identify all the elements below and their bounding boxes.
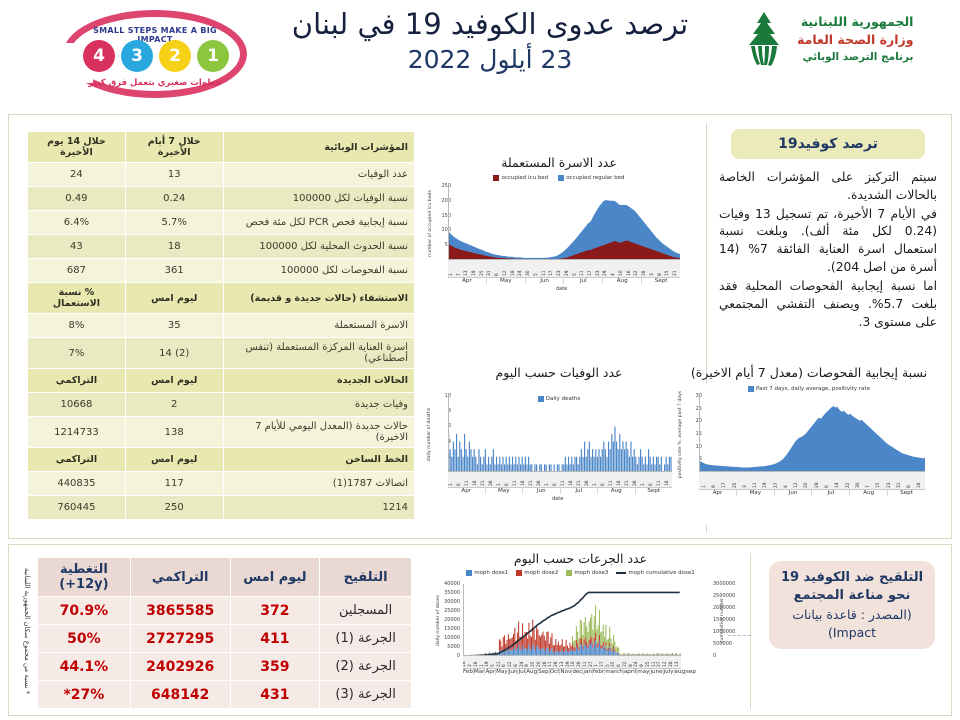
page-title: ترصد عدوى الكوفيد 19 في لبنان xyxy=(250,6,730,42)
x-month-label: Mar xyxy=(474,669,486,675)
page-date: 23 أيلول 2022 xyxy=(250,44,730,75)
x-axis-tick-band: 1611162126161116212616111621261611162126… xyxy=(448,472,672,488)
chart-svg xyxy=(448,396,672,472)
x-tick-label: 30 xyxy=(856,482,861,488)
x-tick-label: 11 xyxy=(580,270,585,276)
x-tick-label: 1 xyxy=(594,664,599,667)
epi-row-label: نسبة إيجابية فحص PCR لكل مئة فحص xyxy=(223,211,414,235)
y-tick-label: 500000 xyxy=(713,641,732,647)
x-month-label: Aug xyxy=(603,278,642,284)
x-tick-label: 1 xyxy=(702,485,707,488)
bottom-section-frame: * نسبة من مجموع سكان الجمهورية اللبنانية… xyxy=(8,544,952,716)
x-tick-label: 6 xyxy=(495,273,500,276)
vax-row-label: المسجلين xyxy=(320,597,412,625)
x-tick-label: 1 xyxy=(480,664,485,667)
x-month-label: Apr xyxy=(699,490,737,496)
x-tick-label: 23 xyxy=(887,482,892,488)
chart-plot-area xyxy=(463,584,681,656)
x-tick-label: 16 xyxy=(617,480,622,486)
y-tick-label: 0 xyxy=(457,653,460,659)
y-tick-label: 35000 xyxy=(444,590,460,596)
x-tick-label: 6 xyxy=(649,483,654,486)
top-section-frame: المؤشرات الوبائيةخلال 7 أيام الأخيرةخلال… xyxy=(8,114,952,539)
x-tick-label: 11 xyxy=(753,482,758,488)
y-axis-label: positivity rate %, average past 7 days xyxy=(675,396,687,472)
table-row: اتصالات 1787(1)117440835 xyxy=(28,472,415,496)
vax-row-cumulative: 3865585 xyxy=(130,597,230,625)
epi-header-label: المؤشرات الوبائية xyxy=(223,132,414,163)
epi-row-7days: 13 xyxy=(125,163,223,187)
x-tick-label: 11 xyxy=(561,480,566,486)
x-tick-label: 11 xyxy=(513,480,518,486)
x-tick-label: 26 xyxy=(585,480,590,486)
x-tick-label: 19 xyxy=(472,270,477,276)
y-axis-label: daily number of deaths xyxy=(424,396,436,472)
legend-swatch xyxy=(538,396,544,402)
vax-row-cumulative: 2727295 xyxy=(130,625,230,653)
x-tick-label: 28 xyxy=(554,661,559,667)
chart-svg xyxy=(448,186,680,260)
x-tick-label: 12 xyxy=(794,482,799,488)
x-month-label: Aug xyxy=(526,669,538,675)
table-row: نسبة الفحوصات لكل 100000361687 xyxy=(28,259,415,283)
legend-label: moph dose2 xyxy=(524,570,558,576)
x-axis-months: AprMayJunJulAugSept xyxy=(699,490,925,496)
x-month-label: april xyxy=(624,669,637,675)
table-row: نسبة الوفيات لكل 1000000.240.49 xyxy=(28,187,415,211)
x-month-label: Aug xyxy=(850,490,888,496)
x-tick-label: 30 xyxy=(526,270,531,276)
x-month-label: May xyxy=(496,669,509,675)
chart-occupied-beds-canvas: occupied icu bedoccupied regular bednumb… xyxy=(424,174,694,309)
x-tick-label: 22 xyxy=(508,661,513,667)
chart-daily-deaths: عدد الوفيات حسب اليوم Daily deathsdaily … xyxy=(424,365,694,530)
epi-row-label: وفيات جديدة xyxy=(223,393,414,417)
chart-occupied-beds-title: عدد الاسرة المستعملة xyxy=(424,155,694,170)
x-tick-label: 25 xyxy=(531,661,536,667)
x-tick-label: 1 xyxy=(449,483,454,486)
vax-panel-divider xyxy=(750,553,751,709)
x-month-label: Jun xyxy=(775,490,813,496)
y-tick-label: 1000000 xyxy=(713,629,735,635)
y-tick-label: 40000 xyxy=(444,581,460,587)
x-tick-label: 5 xyxy=(606,664,611,667)
x-month-label: june xyxy=(650,669,663,675)
legend-swatch xyxy=(516,570,522,576)
step-3-icon: 3 xyxy=(121,40,153,72)
epi-row-7days: 250 xyxy=(125,496,223,520)
x-tick-label: 28 xyxy=(815,482,820,488)
x-month-label: Oct xyxy=(550,669,561,675)
x-tick-label: 6 xyxy=(617,664,622,667)
vax-row-coverage: 70.9% xyxy=(38,597,131,625)
surveillance-paragraph-2: في الأيام 7 الأخيرة، تم تسجيل 13 وفيات (… xyxy=(719,206,937,277)
legend-label: moph cumulative dose1 xyxy=(628,570,694,576)
vax-row-yesterday: 431 xyxy=(230,681,320,709)
legend-label: Past 7 days, daily average, positivity r… xyxy=(756,386,870,392)
epi-row-14days: 10668 xyxy=(28,393,126,417)
impact-steps-icons: 1 2 3 4 xyxy=(83,38,229,74)
legend-label: Daily deaths xyxy=(546,396,580,402)
chart-positivity-rate-title: نسبة إيجابية الفحوصات (معدل 7 أيام الاخي… xyxy=(675,365,943,380)
x-tick-label: 8 xyxy=(514,664,519,667)
x-tick-label: 18 xyxy=(511,270,516,276)
x-month-label: febr xyxy=(593,669,605,675)
x-tick-label: 14 xyxy=(835,482,840,488)
x-tick-label: 20 xyxy=(804,482,809,488)
epi-row-14days: 6.4% xyxy=(28,211,126,235)
x-tick-label: 11 xyxy=(657,480,662,486)
x-tick-label: 18 xyxy=(463,661,467,667)
table-row: عدد الوفيات1324 xyxy=(28,163,415,187)
chart-daily-doses-canvas: moph dose1moph dose2moph dose3moph cumul… xyxy=(433,570,728,710)
epi-row-14days: 24 xyxy=(28,163,126,187)
y-axis-label: number of occupied icu beds xyxy=(424,186,436,260)
vaccination-table: التلقيحليوم امسالتراكميالتغطية (12y+)الم… xyxy=(37,557,412,709)
x-tick-label: 27 xyxy=(657,661,662,667)
x-tick-label: 24 xyxy=(634,661,639,667)
x-month-label: Jul xyxy=(518,669,526,675)
x-tick-label: 7 xyxy=(866,485,871,488)
epi-row-label: نسبة الحدوث المحلية لكل 100000 xyxy=(223,235,414,259)
legend-swatch xyxy=(566,570,572,576)
x-month-label: Jun xyxy=(523,488,561,494)
y-axis-label-text: positivity rate %, average past 7 days xyxy=(679,390,684,477)
x-month-label: july xyxy=(664,669,675,675)
x-tick-label: 10 xyxy=(619,270,624,276)
x-month-label: Aug xyxy=(598,488,636,494)
x-tick-label: 11 xyxy=(652,661,657,667)
x-tick-label: 13 xyxy=(675,661,680,667)
chart-plot-area xyxy=(448,186,680,260)
legend-swatch xyxy=(616,572,626,574)
vax-row-label: الجرعة (3) xyxy=(320,681,412,709)
step-2-icon: 2 xyxy=(159,40,191,72)
epi-row-14days: 7% xyxy=(28,338,126,369)
epi-row-14days: التراكمي xyxy=(28,448,126,472)
page-header: SMALL STEPS MAKE A BIG IMPACT 1 2 3 4 خط… xyxy=(0,0,960,108)
chart-daily-doses: عدد الجرعات حسب اليوم moph dose1moph dos… xyxy=(433,551,728,713)
x-tick-label: 21 xyxy=(673,270,678,276)
x-tick-label: 21 xyxy=(625,480,630,486)
x-tick-label: 6 xyxy=(825,485,830,488)
x-tick-label: 5 xyxy=(491,664,496,667)
dashboard-content: المؤشرات الوبائيةخلال 7 أيام الأخيرةخلال… xyxy=(0,108,960,720)
chart-legend: occupied icu bedoccupied regular bed xyxy=(424,175,694,181)
x-axis-months: AprMayJunJulAugSept xyxy=(448,278,680,284)
x-tick-label: 21 xyxy=(529,480,534,486)
epi-row-7days: 117 xyxy=(125,472,223,496)
x-tick-label: 22 xyxy=(846,482,851,488)
x-tick-label: 21 xyxy=(481,480,486,486)
epi-row-7days: 138 xyxy=(125,417,223,448)
epi-row-7days: 0.24 xyxy=(125,187,223,211)
table-row: الخط الساخنليوم امسالتراكمي xyxy=(28,448,415,472)
legend-swatch xyxy=(493,175,499,181)
x-tick-label: 4 xyxy=(611,273,616,276)
moph-line-republic: الجمهورية اللبنانية xyxy=(797,13,913,31)
x-tick-label: 15 xyxy=(876,482,881,488)
epi-header-14days: خلال 14 يوم الأخيرة xyxy=(28,132,126,163)
x-month-label: march xyxy=(605,669,624,675)
x-tick-label: 21 xyxy=(497,661,502,667)
chart-daily-deaths-title: عدد الوفيات حسب اليوم xyxy=(424,365,694,380)
x-month-label: Jul xyxy=(561,488,599,494)
x-tick-label: 17 xyxy=(600,661,605,667)
x-tick-label: 5 xyxy=(573,273,578,276)
chart-daily-doses-title: عدد الجرعات حسب اليوم xyxy=(433,551,728,566)
vax-row-yesterday: 359 xyxy=(230,653,320,681)
y-tick-label: 20000 xyxy=(444,617,460,623)
x-tick-label: 11 xyxy=(542,270,547,276)
epi-row-14days: 0.49 xyxy=(28,187,126,211)
x-month-label: Sept xyxy=(636,488,673,494)
epi-header-7days: خلال 7 أيام الأخيرة xyxy=(125,132,223,163)
x-month-label: Sept xyxy=(642,278,680,284)
x-month-label: Sept xyxy=(888,490,925,496)
vax-row-coverage: 44.1% xyxy=(38,653,131,681)
vax-row-label: الجرعة (2) xyxy=(320,653,412,681)
x-tick-label: 9 xyxy=(525,664,530,667)
x-month-label: Jun xyxy=(526,278,565,284)
legend-label: occupied regular bed xyxy=(566,175,624,181)
x-tick-label: 11 xyxy=(583,661,588,667)
x-tick-label: 17 xyxy=(588,270,593,276)
x-tick-label: 22 xyxy=(623,661,628,667)
table-row: 1214250760445 xyxy=(28,496,415,520)
y-tick-label: 0 xyxy=(713,653,716,659)
epi-row-14days: % نسبة الاستعمال xyxy=(28,283,126,314)
epi-row-label: الاستشفاء (حالات جديدة و قديمة) xyxy=(223,283,414,314)
legend-item: moph dose1 xyxy=(466,570,508,576)
x-tick-label: 22 xyxy=(634,270,639,276)
x-tick-label: 4 xyxy=(784,485,789,488)
impact-logo-bottom-text: خطوات صغيري بتعمل فرق كبير xyxy=(79,78,231,88)
y-tick-label: 2000000 xyxy=(713,605,735,611)
legend-label: moph dose1 xyxy=(474,570,508,576)
x-tick-label: 28 xyxy=(642,270,647,276)
x-tick-label: 5 xyxy=(534,273,539,276)
chart-plot-area xyxy=(448,396,672,472)
epi-row-7days: 361 xyxy=(125,259,223,283)
x-tick-label: 23 xyxy=(596,270,601,276)
vax-row-cumulative: 2402926 xyxy=(130,653,230,681)
x-tick-label: 29 xyxy=(565,270,570,276)
table-row: الجرعة (2)359240292644.1% xyxy=(38,653,412,681)
epi-row-14days: 440835 xyxy=(28,472,126,496)
y-axis-ticks: 0500010000150002000025000300003500040000 xyxy=(445,584,461,656)
vax-table-footnote: * نسبة من مجموع سكان الجمهورية اللبنانية xyxy=(19,555,35,707)
x-tick-label: 12 xyxy=(663,661,668,667)
step-1-icon: 1 xyxy=(197,40,229,72)
moph-line-program: برنامج الترصد الوبائي xyxy=(797,50,913,65)
x-month-label: May xyxy=(487,278,526,284)
epi-row-label: الحالات الجديدة xyxy=(223,369,414,393)
vax-row-yesterday: 411 xyxy=(230,625,320,653)
chart-legend: Daily deaths xyxy=(424,396,694,402)
x-tick-label: 26 xyxy=(543,661,548,667)
x-tick-label: 15 xyxy=(665,270,670,276)
x-tick-label: 1 xyxy=(545,483,550,486)
x-tick-label: 1 xyxy=(593,483,598,486)
x-axis-label: date xyxy=(552,496,563,502)
x-tick-label: 25 xyxy=(611,661,616,667)
chart-daily-deaths-canvas: Daily deathsdaily number of deaths024681… xyxy=(424,384,694,524)
legend-item: Past 7 days, daily average, positivity r… xyxy=(748,386,870,392)
x-tick-label: 21 xyxy=(577,480,582,486)
x-tick-label: 2 xyxy=(468,664,473,667)
epi-row-7days: 35 xyxy=(125,314,223,338)
table-row: نسبة الحدوث المحلية لكل 1000001843 xyxy=(28,235,415,259)
chart-positivity-rate-canvas: Past 7 days, daily average, positivity r… xyxy=(675,384,943,524)
table-row: الجرعة (3)43164814227%* xyxy=(38,681,412,709)
x-tick-label: 8 xyxy=(629,664,634,667)
vax-row-coverage: 27%* xyxy=(38,681,131,709)
x-tick-label: 25 xyxy=(733,482,738,488)
x-month-label: Feb xyxy=(463,669,474,675)
epi-row-7days: 5.7% xyxy=(125,211,223,235)
surveillance-paragraph-3: اما نسبة إيجابية الفحوصات المحلية فقد بل… xyxy=(719,278,937,331)
x-month-label: aug xyxy=(675,669,687,675)
x-tick-label: 6 xyxy=(457,483,462,486)
x-tick-label: 26 xyxy=(537,480,542,486)
legend-item: moph cumulative dose1 xyxy=(616,570,694,576)
vaccination-panel: التلقيح ضد الكوفيد 19 نحو مناعة المجتمع … xyxy=(769,561,935,649)
x-tick-label: 20 xyxy=(537,661,542,667)
x-month-label: Sep xyxy=(538,669,550,675)
vax-table-header-row: التلقيحليوم امسالتراكميالتغطية (12y+) xyxy=(38,558,412,597)
epi-row-label: حالات جديدة (المعدل اليومي للأيام 7 الاخ… xyxy=(223,417,414,448)
x-tick-label: 27 xyxy=(589,661,594,667)
epi-row-14days: 687 xyxy=(28,259,126,283)
surveillance-panel: ترصد كوفيد19 سيتم التركيز على المؤشرات ا… xyxy=(715,129,941,332)
legend-item: moph dose2 xyxy=(516,570,558,576)
vax-header-yesterday: ليوم امس xyxy=(230,558,320,597)
epi-row-7days: 18 xyxy=(125,235,223,259)
y-tick-label: 10000 xyxy=(444,635,460,641)
x-tick-label: 29 xyxy=(566,661,571,667)
vax-header-coverage: التغطية (12y+) xyxy=(38,558,131,597)
epi-table-body: المؤشرات الوبائيةخلال 7 أيام الأخيرةخلال… xyxy=(28,132,415,520)
table-row: الاستشفاء (حالات جديدة و قديمة)ليوم امس%… xyxy=(28,283,415,314)
x-tick-label: 16 xyxy=(521,480,526,486)
moph-logo-text: الجمهورية اللبنانية وزارة الصحة العامة ب… xyxy=(797,13,913,64)
epi-row-label: نسبة الفحوصات لكل 100000 xyxy=(223,259,414,283)
legend-item: Daily deaths xyxy=(538,396,580,402)
y-tick-label: 15000 xyxy=(444,626,460,632)
dashboard-page: SMALL STEPS MAKE A BIG IMPACT 1 2 3 4 خط… xyxy=(0,0,960,720)
x-tick-label: 11 xyxy=(465,480,470,486)
x-tick-label: 6 xyxy=(502,664,507,667)
epi-row-label: نسبة الوفيات لكل 100000 xyxy=(223,187,414,211)
epi-row-label: الاسرة المستعملة xyxy=(223,314,414,338)
x-tick-label: 19 xyxy=(485,661,490,667)
epi-row-7days: 2 xyxy=(125,393,223,417)
epi-row-7days: ليوم امس xyxy=(125,283,223,314)
x-tick-label: 16 xyxy=(917,482,922,488)
x-tick-label: 9 xyxy=(712,485,717,488)
x-tick-label: 16 xyxy=(473,480,478,486)
chart-positivity-rate: نسبة إيجابية الفحوصات (معدل 7 أيام الاخي… xyxy=(675,365,943,530)
x-tick-label: 13 xyxy=(464,270,469,276)
x-tick-label: 27 xyxy=(774,482,779,488)
x-tick-label: 29 xyxy=(603,270,608,276)
legend-label: occupied icu bed xyxy=(501,175,548,181)
x-tick-label: 6 xyxy=(505,483,510,486)
table-row: المسجلين372386558570.9% xyxy=(38,597,412,625)
x-axis-tick-band: 1917253111927412202861422307152331816 xyxy=(699,472,925,490)
x-tick-label: 6 xyxy=(601,483,606,486)
x-axis-tick-band: 1713192531612182430511172329511172329410… xyxy=(448,260,680,278)
x-month-label: Apr xyxy=(448,278,487,284)
x-tick-label: 25 xyxy=(480,270,485,276)
x-tick-label: 16 xyxy=(665,480,670,486)
surveillance-paragraph-1: سيتم التركيز على المؤشرات الخاصة بالحالا… xyxy=(719,169,937,205)
y-axis-ticks: 0500000100000015000002000000250000030000… xyxy=(712,584,728,656)
x-tick-label: 1 xyxy=(641,483,646,486)
x-axis-label: date xyxy=(556,286,567,292)
x-tick-label: 17 xyxy=(549,270,554,276)
x-tick-label: 19 xyxy=(763,482,768,488)
legend-swatch xyxy=(466,570,472,576)
x-month-label: sep xyxy=(686,669,696,675)
x-month-label: Jul xyxy=(564,278,603,284)
chart-svg xyxy=(463,584,681,656)
x-tick-label: 28 xyxy=(669,661,674,667)
x-tick-label: 1 xyxy=(497,483,502,486)
x-tick-label: 11 xyxy=(609,480,614,486)
x-tick-label: 6 xyxy=(553,483,558,486)
x-axis-months: AprMayJunJulAugSept xyxy=(448,488,672,494)
x-tick-label: 3 xyxy=(743,485,748,488)
x-tick-label: 3 xyxy=(650,273,655,276)
x-tick-label: 24 xyxy=(520,661,525,667)
epi-row-7days: (2) 14 xyxy=(125,338,223,369)
x-tick-label: 11 xyxy=(548,661,553,667)
x-month-label: dec xyxy=(572,669,583,675)
x-axis-tick-band: 1821811952162282492520261128132910261127… xyxy=(463,656,681,669)
x-tick-label: 26 xyxy=(633,480,638,486)
epi-row-label: الخط الساخن xyxy=(223,448,414,472)
surveillance-panel-body: سيتم التركيز على المؤشرات الخاصة بالحالا… xyxy=(715,169,941,331)
legend-swatch xyxy=(558,175,564,181)
epi-row-label: 1214 xyxy=(223,496,414,520)
x-tick-label: 18 xyxy=(474,661,479,667)
x-month-label: Jul xyxy=(812,490,850,496)
cedar-tree-icon xyxy=(737,10,791,68)
epi-row-label: اتصالات 1787(1) xyxy=(223,472,414,496)
chart-legend: Past 7 days, daily average, positivity r… xyxy=(675,386,943,392)
epi-row-label: عدد الوفيات xyxy=(223,163,414,187)
x-tick-label: 12 xyxy=(503,270,508,276)
vax-row-label: الجرعة (1) xyxy=(320,625,412,653)
y-axis-label-text: daily number of deaths xyxy=(428,407,433,460)
legend-swatch xyxy=(748,386,754,392)
legend-item: moph dose3 xyxy=(566,570,608,576)
x-tick-label: 25 xyxy=(646,661,651,667)
y-tick-label: 30000 xyxy=(444,599,460,605)
x-month-label: may xyxy=(637,669,650,675)
vax-header-cumulative: التراكمي xyxy=(130,558,230,597)
y-tick-label: 3000000 xyxy=(713,581,735,587)
x-tick-label: 26 xyxy=(577,661,582,667)
epi-indicators-table: المؤشرات الوبائيةخلال 7 أيام الأخيرةخلال… xyxy=(27,131,415,520)
moph-logo: الجمهورية اللبنانية وزارة الصحة العامة ب… xyxy=(737,8,952,70)
x-tick-label: 13 xyxy=(560,661,565,667)
x-tick-label: 9 xyxy=(658,273,663,276)
page-title-block: ترصد عدوى الكوفيد 19 في لبنان 23 أيلول 2… xyxy=(250,6,730,76)
x-tick-label: 24 xyxy=(518,270,523,276)
